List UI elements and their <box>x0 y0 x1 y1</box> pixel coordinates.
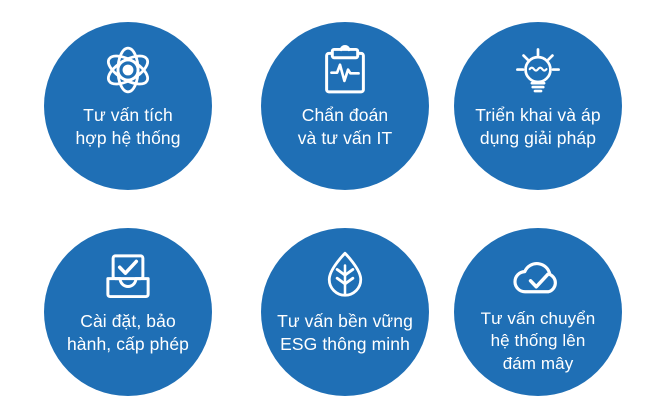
service-label: Tư vấn bền vững ESG thông minh <box>269 310 421 356</box>
services-infographic: Tư vấn tích hợp hệ thống Chẩn đoán và tư… <box>0 0 650 417</box>
service-circle-diagnosis-consulting[interactable]: Chẩn đoán và tư vấn IT <box>261 22 429 190</box>
leaf-icon <box>317 248 373 304</box>
service-label: Tư vấn chuyển hệ thống lên đám mây <box>473 308 604 375</box>
cloud-check-icon <box>510 248 566 304</box>
service-label: Tư vấn tích hợp hệ thống <box>67 104 188 150</box>
inbox-check-icon <box>100 248 156 304</box>
clipboard-pulse-icon <box>317 42 373 98</box>
lightbulb-icon <box>510 42 566 98</box>
service-label: Triển khai và áp dụng giải pháp <box>467 104 608 150</box>
service-circle-deployment-solutions[interactable]: Triển khai và áp dụng giải pháp <box>454 22 622 190</box>
service-circle-system-integration[interactable]: Tư vấn tích hợp hệ thống <box>44 22 212 190</box>
service-circle-cloud-migration[interactable]: Tư vấn chuyển hệ thống lên đám mây <box>454 228 622 396</box>
service-label: Chẩn đoán và tư vấn IT <box>290 104 401 150</box>
service-circle-installation-warranty[interactable]: Cài đặt, bảo hành, cấp phép <box>44 228 212 396</box>
service-circle-esg-sustainability[interactable]: Tư vấn bền vững ESG thông minh <box>261 228 429 396</box>
service-label: Cài đặt, bảo hành, cấp phép <box>59 310 197 356</box>
atom-icon <box>100 42 156 98</box>
